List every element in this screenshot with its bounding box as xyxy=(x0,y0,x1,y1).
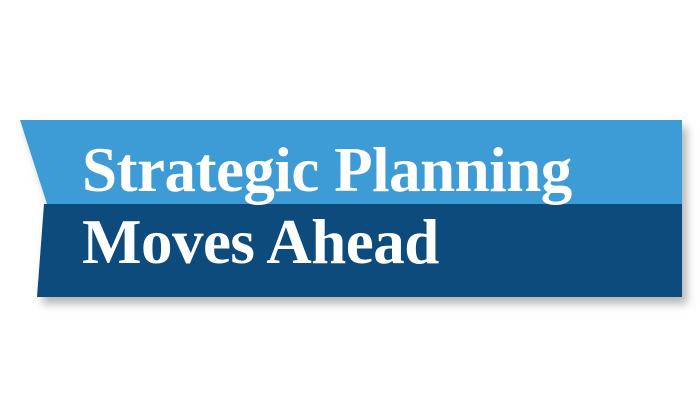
banner-ribbons xyxy=(20,120,682,297)
banner-graphic xyxy=(0,0,700,420)
banner-band-bottom xyxy=(37,204,682,297)
banner-shape-svg xyxy=(0,0,700,420)
banner-band-top xyxy=(20,120,682,204)
banner-stage: Strategic Planning Moves Ahead xyxy=(0,0,700,420)
